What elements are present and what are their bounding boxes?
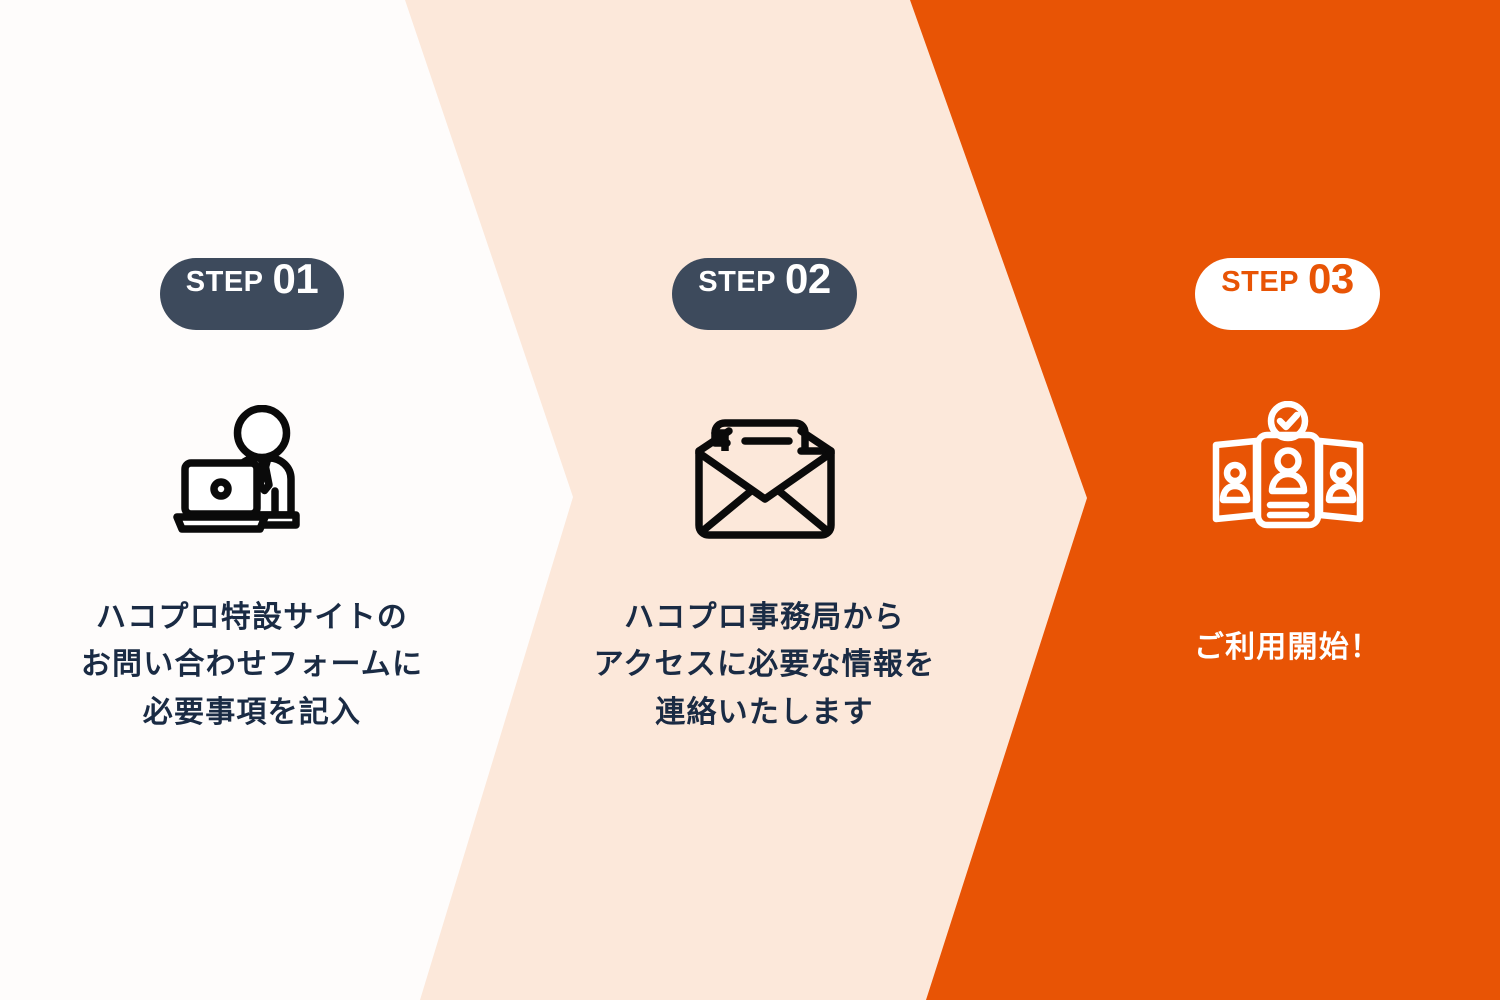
step-1-badge: STEP 01 <box>160 258 344 330</box>
step-flow-graphic: STEP 01 <box>0 0 1500 1000</box>
step-2-badge-number: 02 <box>785 258 831 300</box>
open-envelope-letter-icon <box>675 396 855 546</box>
step-3-badge-word: STEP <box>1221 268 1299 297</box>
step-1-badge-number: 01 <box>273 258 319 300</box>
step-1-caption: ハコプロ特設サイトの お問い合わせフォームに 必要事項を記入 <box>81 594 423 736</box>
step-card-1: STEP 01 <box>0 0 500 1000</box>
id-cards-verified-icon <box>1198 396 1378 546</box>
step-card-2: STEP 02 <box>500 0 1005 1000</box>
step-2-caption: ハコプロ事務局から アクセスに必要な情報を 連絡いたします <box>594 594 936 736</box>
step-3-caption: ご利用開始！ <box>1194 624 1381 671</box>
step-2-badge: STEP 02 <box>672 258 856 330</box>
step-2-badge-word: STEP <box>698 268 776 297</box>
person-at-laptop-icon <box>162 396 342 546</box>
steps-row: STEP 01 <box>0 0 1500 1000</box>
step-3-badge: STEP 03 <box>1195 258 1379 330</box>
step-3-badge-number: 03 <box>1308 258 1354 300</box>
step-1-badge-word: STEP <box>186 268 264 297</box>
step-card-3: STEP 03 <box>1005 0 1500 1000</box>
